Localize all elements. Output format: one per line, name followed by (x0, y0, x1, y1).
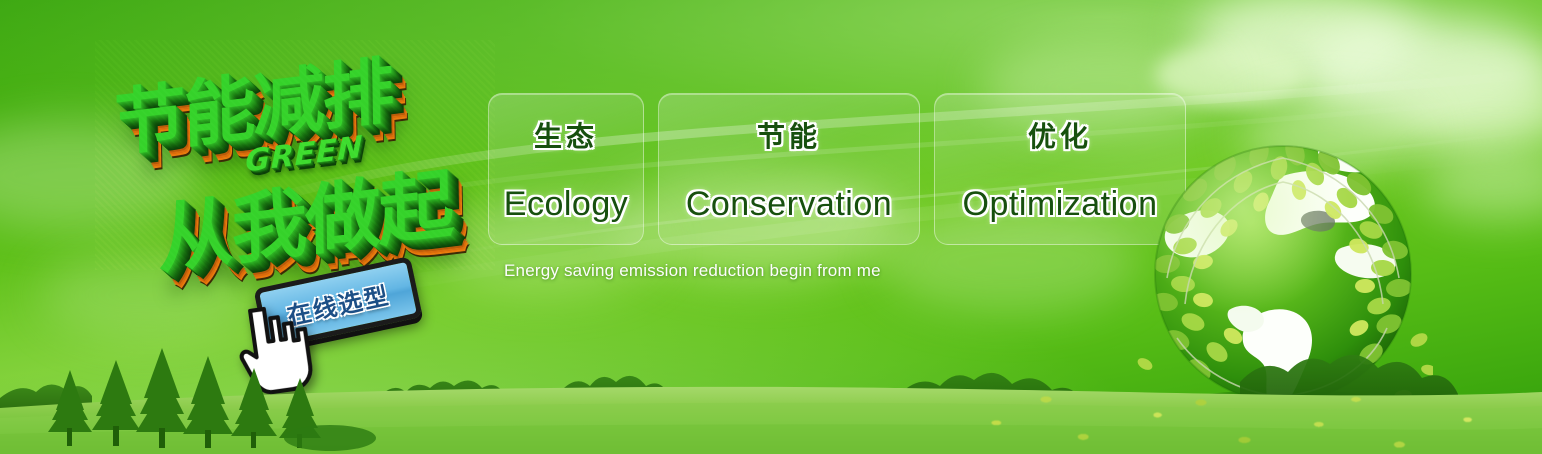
feature-card-ecology-en: Ecology (504, 185, 628, 224)
eco-promo-banner: 节能减排 GREEN 从我做起 在线选型 生态 Ecology 节能 Conse… (0, 0, 1542, 454)
leaf-litter-icon (922, 376, 1542, 454)
feature-card-conservation[interactable]: 节能 Conservation (658, 93, 920, 245)
feature-card-ecology[interactable]: 生态 Ecology (488, 93, 644, 245)
feature-card-ecology-cn: 生态 (534, 115, 598, 155)
banner-tagline: Energy saving emission reduction begin f… (504, 261, 881, 281)
feature-card-optimization-en: Optimization (963, 185, 1158, 224)
hero-headline-3d: 节能减排 GREEN 从我做起 (95, 40, 495, 270)
feature-card-optimization-cn: 优化 (1028, 115, 1092, 155)
feature-card-conservation-en: Conservation (686, 185, 892, 224)
feature-card-row: 生态 Ecology 节能 Conservation 优化 Optimizati… (488, 93, 1186, 245)
feature-card-conservation-cn: 节能 (757, 115, 821, 155)
